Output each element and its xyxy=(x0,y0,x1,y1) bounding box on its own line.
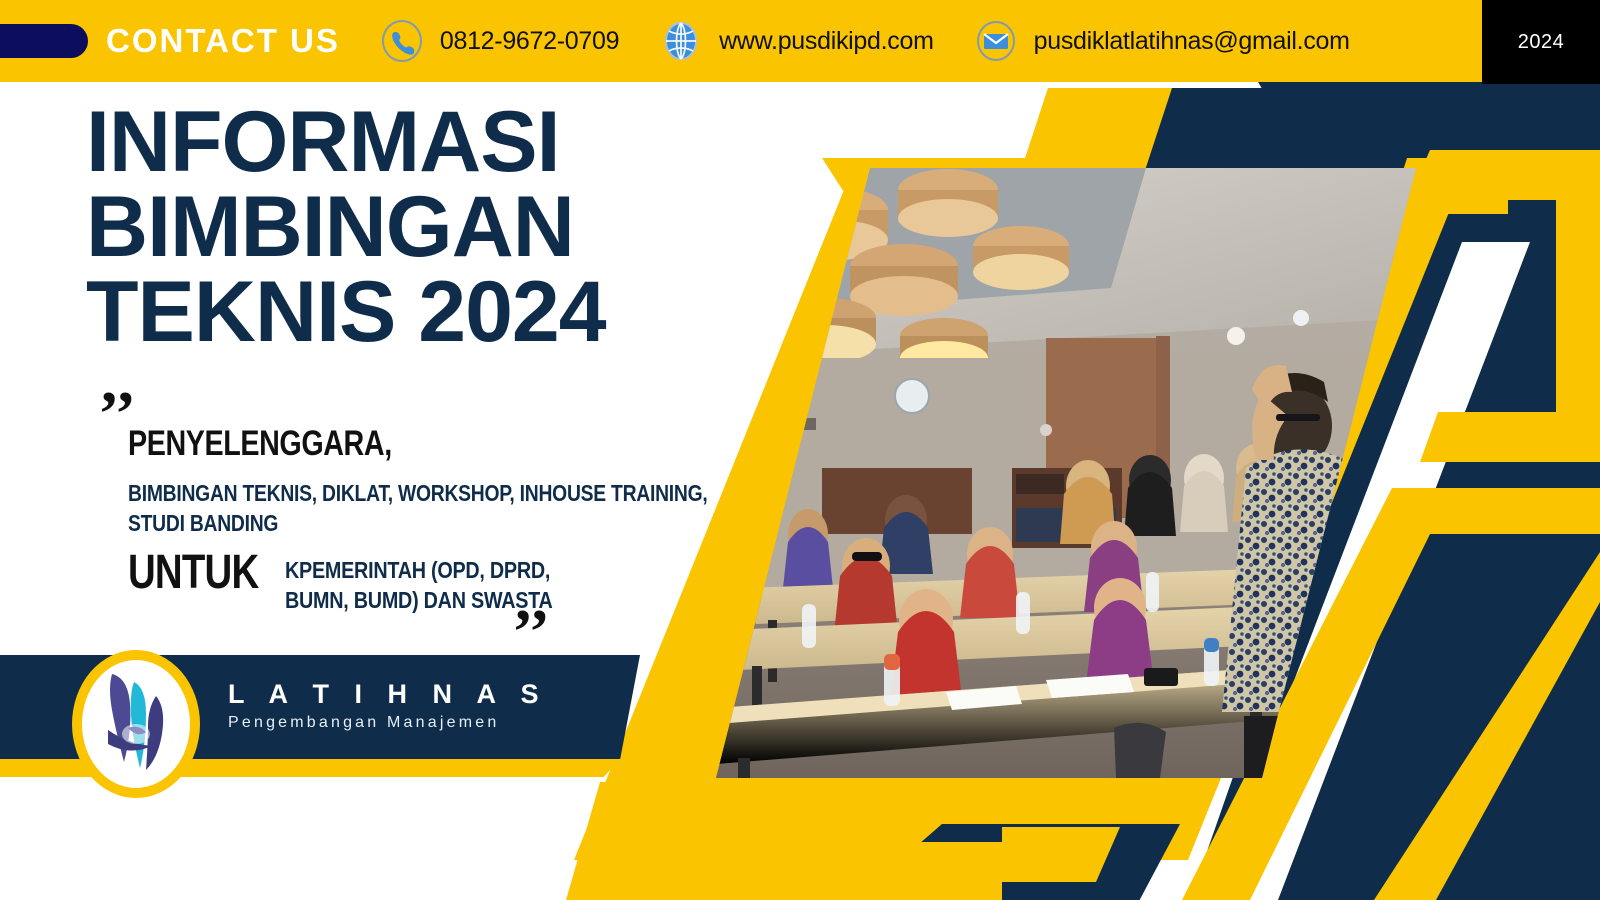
service-line-1: BIMBINGAN TEKNIS, DIKLAT, WORKSHOP, INHO… xyxy=(128,478,666,508)
quote-close-mark: ’’ xyxy=(512,600,550,664)
service-line-2: STUDI BANDING xyxy=(128,508,666,538)
contact-bar: CONTACT US 0812-9672-0709 www.pusdikipd.… xyxy=(0,0,1482,82)
contact-phone[interactable]: 0812-9672-0709 xyxy=(380,19,619,63)
accent-pill xyxy=(0,24,88,58)
avatar xyxy=(72,650,200,798)
brand-name: L A T I H N A S xyxy=(228,678,548,710)
contact-email[interactable]: pusdiklatlatihnas@gmail.com xyxy=(974,19,1350,63)
poster-canvas: CONTACT US 0812-9672-0709 www.pusdikipd.… xyxy=(0,0,1600,900)
year-badge: 2024 xyxy=(1482,0,1600,84)
quote-service-list: BIMBINGAN TEKNIS, DIKLAT, WORKSHOP, INHO… xyxy=(128,478,666,539)
latihnas-feather-logo xyxy=(82,660,190,788)
yellow-dot xyxy=(598,808,641,855)
contact-website[interactable]: www.pusdikipd.com xyxy=(659,19,933,63)
quote-untuk-label: UNTUK xyxy=(128,545,258,600)
headline-line-1: INFORMASI xyxy=(86,100,786,185)
yellow-dot xyxy=(728,808,771,855)
headline-line-3: TEKNIS 2024 xyxy=(86,270,786,355)
contact-phone-text: 0812-9672-0709 xyxy=(440,27,619,56)
contact-website-text: www.pusdikipd.com xyxy=(719,27,933,56)
year-badge-text: 2024 xyxy=(1518,31,1565,54)
contact-email-text: pusdiklatlatihnas@gmail.com xyxy=(1034,27,1350,56)
decor-dots xyxy=(598,808,771,855)
contact-us-title: CONTACT US xyxy=(106,22,340,60)
quote-lead-text: PENYELENGGARA, xyxy=(128,424,392,464)
globe-icon xyxy=(659,19,703,63)
audience-line-2: BUMN, BUMD) DAN SWASTA xyxy=(285,586,646,616)
phone-icon xyxy=(380,19,424,63)
yellow-dot xyxy=(663,808,706,855)
email-icon xyxy=(974,19,1018,63)
headline-line-2: BIMBINGAN xyxy=(86,185,786,270)
audience-line-1: KPEMERINTAH (OPD, DPRD, xyxy=(285,556,646,586)
brand-tagline: Pengembangan Manajemen xyxy=(228,714,548,732)
brand-block: L A T I H N A S Pengembangan Manajemen xyxy=(228,678,548,732)
quote-audience-list: KPEMERINTAH (OPD, DPRD, BUMN, BUMD) DAN … xyxy=(285,556,646,616)
page-title: INFORMASI BIMBINGAN TEKNIS 2024 xyxy=(86,100,786,355)
